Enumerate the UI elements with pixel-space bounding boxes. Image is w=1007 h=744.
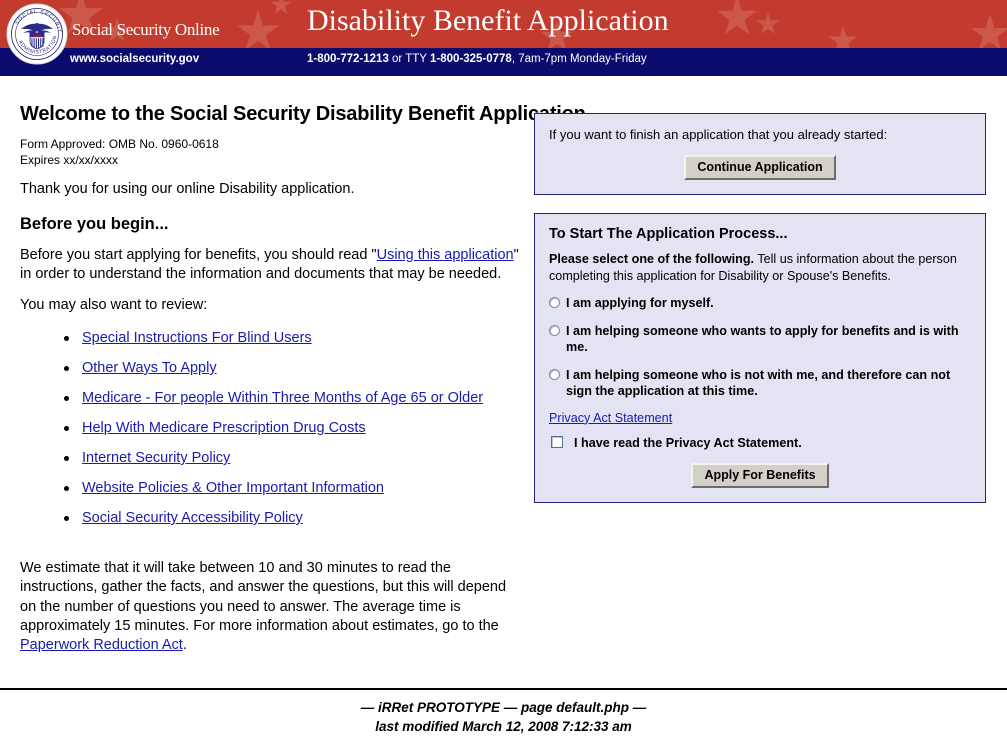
review-link-website-policies[interactable]: Website Policies & Other Important Infor… [82,480,384,496]
review-link-medicare-age-65[interactable]: Medicare - For people Within Three Month… [82,390,483,406]
phone-primary: 1-800-772-1213 [307,53,389,65]
decorative-star-icon [236,10,280,48]
review-link-blind-users[interactable]: Special Instructions For Blind Users [82,330,312,346]
seal-shield-label: USA [33,33,42,38]
review-link-internet-security-policy[interactable]: Internet Security Policy [82,450,230,466]
right-column: If you want to finish an application tha… [534,113,986,503]
radio-option-label: I am applying for myself. [566,296,714,310]
review-links-list: Special Instructions For Blind Users Oth… [20,329,520,528]
checkbox-label: I have read the Privacy Act Statement. [574,436,802,450]
phone-tty: 1-800-325-0778 [430,53,512,65]
estimate-text-post: . [183,637,187,653]
before-you-begin-heading: Before you begin... [20,215,520,234]
decorative-star-icon [716,0,758,38]
omb-approval: Form Approved: OMB No. 0960-0618 [20,136,520,152]
review-intro-text: You may also want to review: [20,296,520,315]
start-application-panel: To Start The Application Process... Plea… [534,213,986,503]
radio-option-applying-for-myself[interactable]: I am applying for myself. [549,295,971,312]
phone-separator: or TTY [389,53,430,65]
radio-button-icon[interactable] [549,325,560,336]
site-masthead: SOCIAL SECURITY ADMINISTRATION USA Socia… [0,0,1007,76]
list-item: Website Policies & Other Important Infor… [72,479,520,498]
page-title: Welcome to the Social Security Disabilit… [20,76,520,126]
apply-for-benefits-button[interactable]: Apply For Benefits [691,463,828,488]
page-body: Welcome to the Social Security Disabilit… [0,76,1007,688]
socialsecurity-gov-link[interactable]: www.socialsecurity.gov [70,53,199,65]
start-panel-heading: To Start The Application Process... [549,226,971,242]
radio-option-helping-someone-with-me[interactable]: I am helping someone who wants to apply … [549,323,971,356]
contact-phone-line: 1-800-772-1213 or TTY 1-800-325-0778, 7a… [307,53,647,65]
thank-you-text: Thank you for using our online Disabilit… [20,180,520,199]
start-panel-instructions: Please select one of the following. Tell… [549,251,971,284]
list-item: Other Ways To Apply [72,359,520,378]
list-item: Social Security Accessibility Policy [72,509,520,528]
list-item: Internet Security Policy [72,449,520,468]
list-item: Special Instructions For Blind Users [72,329,520,348]
ssa-seal-icon: SOCIAL SECURITY ADMINISTRATION USA [6,3,68,65]
radio-option-helping-someone-not-with-me[interactable]: I am helping someone who is not with me,… [549,367,971,400]
omb-block: Form Approved: OMB No. 0960-0618 Expires… [20,136,520,168]
using-this-application-link[interactable]: Using this application [377,247,514,263]
paperwork-reduction-act-link[interactable]: Paperwork Reduction Act [20,637,183,653]
privacy-act-statement-row: Privacy Act Statement [549,411,971,425]
decorative-star-icon [828,26,858,48]
review-link-medicare-drug-costs[interactable]: Help With Medicare Prescription Drug Cos… [82,420,366,436]
select-one-bold-text: Please select one of the following. [549,252,754,266]
radio-option-label: I am helping someone who is not with me,… [566,368,950,399]
before-text-pre: Before you start applying for benefits, … [20,247,377,263]
decorative-star-icon [756,12,780,36]
list-item: Help With Medicare Prescription Drug Cos… [72,419,520,438]
radio-button-icon[interactable] [549,297,560,308]
decorative-star-icon [270,0,292,16]
review-link-other-ways-to-apply[interactable]: Other Ways To Apply [82,360,217,376]
phone-hours: , 7am-7pm Monday-Friday [512,53,647,65]
footer-text-block: — iRRet PROTOTYPE — page default.php — l… [0,690,1007,736]
left-column: Welcome to the Social Security Disabilit… [20,76,520,655]
before-you-begin-text: Before you start applying for benefits, … [20,246,520,284]
continue-application-panel: If you want to finish an application tha… [534,113,986,195]
privacy-act-acknowledgement-row[interactable]: I have read the Privacy Act Statement. [549,436,971,451]
application-title: Disability Benefit Application [307,4,669,38]
checkbox-icon[interactable] [551,436,563,448]
omb-expiration: Expires xx/xx/xxxx [20,152,520,168]
continue-panel-intro: If you want to finish an application tha… [549,126,971,143]
radio-option-label: I am helping someone who wants to apply … [566,324,959,355]
list-item: Medicare - For people Within Three Month… [72,389,520,408]
estimate-text-pre: We estimate that it will take between 10… [20,560,506,634]
page-footer: — iRRet PROTOTYPE — page default.php — l… [0,688,1007,736]
continue-button-row: Continue Application [549,155,971,180]
time-estimate-text: We estimate that it will take between 10… [20,559,520,655]
apply-button-row: Apply For Benefits [549,463,971,488]
review-link-accessibility-policy[interactable]: Social Security Accessibility Policy [82,510,303,526]
continue-application-button[interactable]: Continue Application [684,155,835,180]
footer-prototype-line: — iRRet PROTOTYPE — page default.php — [0,698,1007,717]
footer-last-modified-line: last modified March 12, 2008 7:12:33 am [0,717,1007,736]
decorative-star-icon [970,14,1007,48]
privacy-act-statement-link[interactable]: Privacy Act Statement [549,411,672,425]
brand-title: Social Security Online [72,20,219,40]
radio-button-icon[interactable] [549,369,560,380]
